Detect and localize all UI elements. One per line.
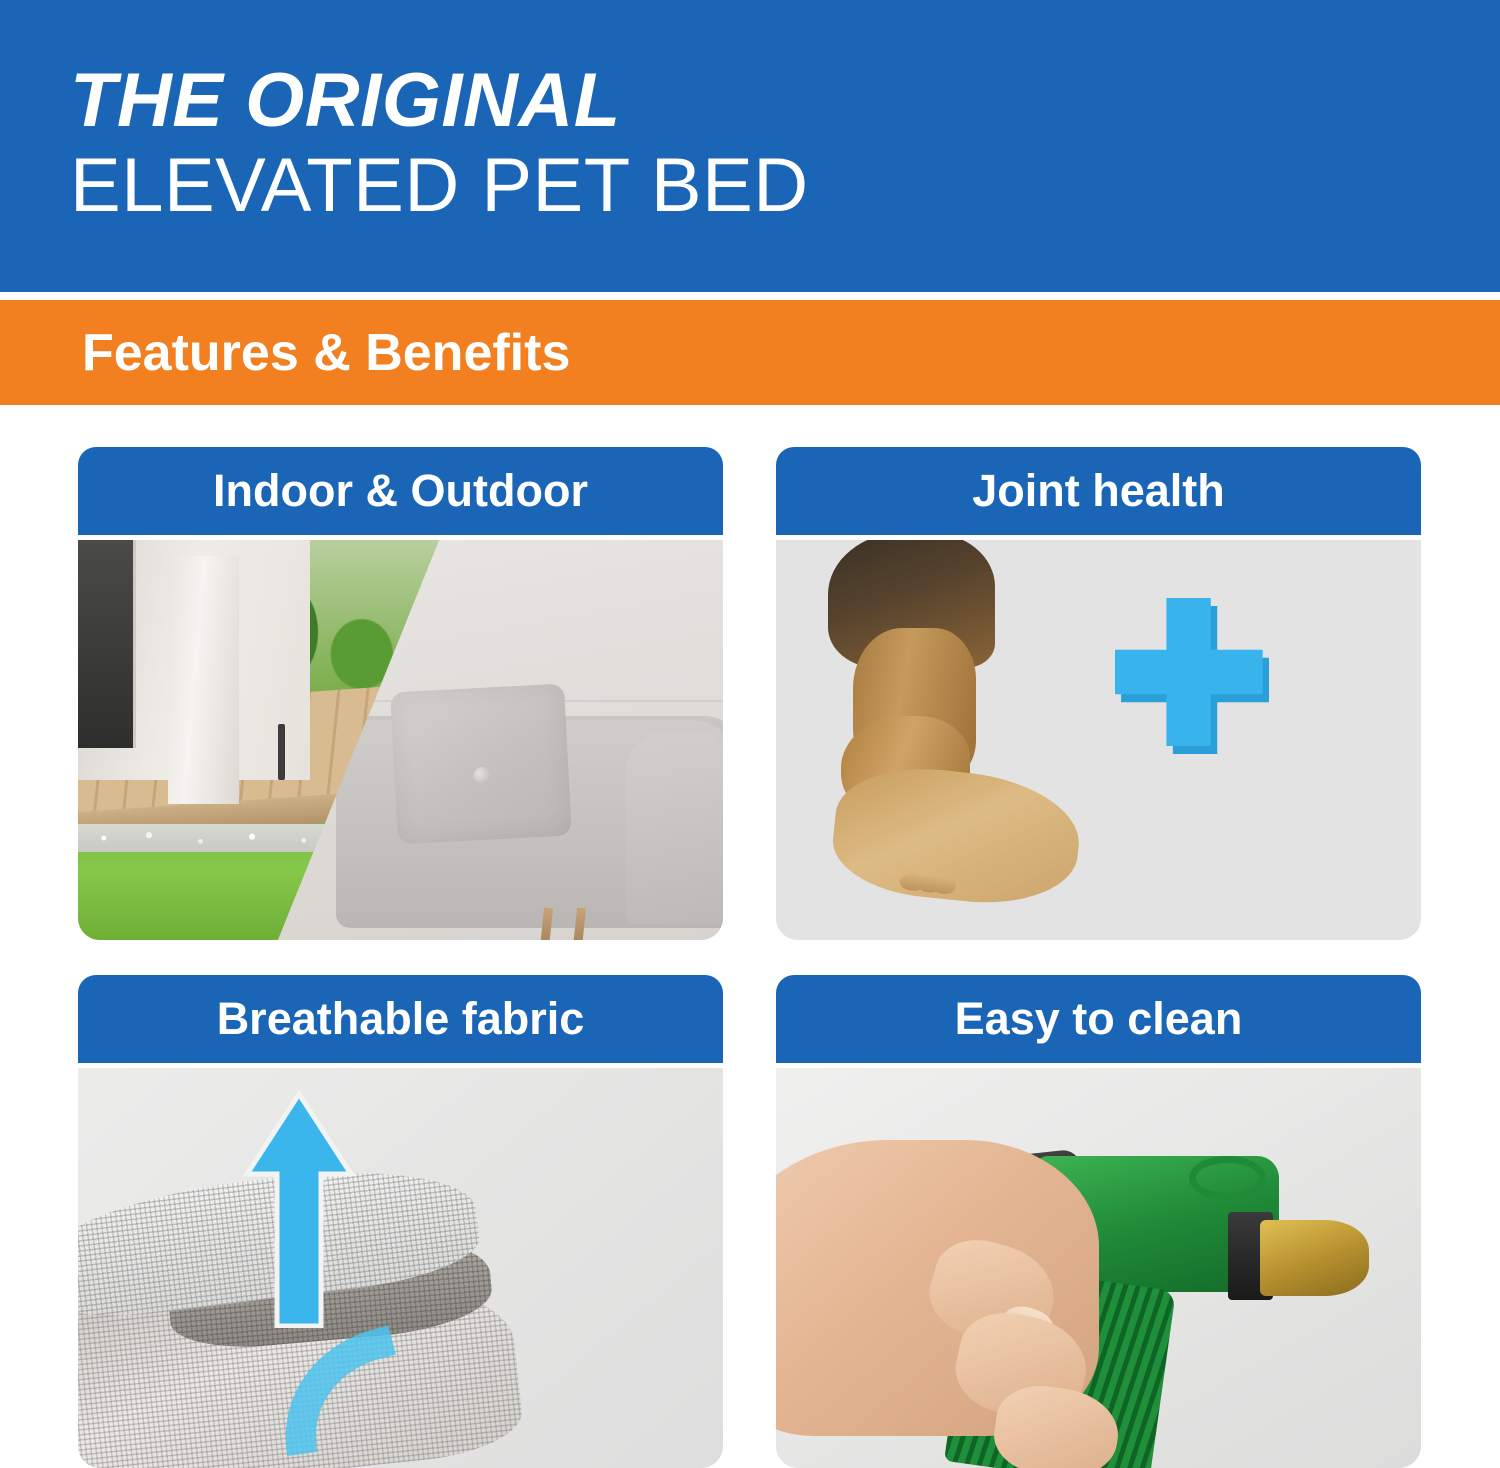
card-label-joint-health: Joint health — [972, 465, 1225, 517]
glass-door — [78, 540, 136, 748]
card-label-easy-to-clean: Easy to clean — [955, 993, 1243, 1045]
features-band-title: Features & Benefits — [82, 323, 570, 383]
card-image-indoor-outdoor — [78, 540, 723, 940]
feature-card-joint-health: Joint health — [776, 447, 1421, 935]
card-image-joint-health — [776, 540, 1421, 940]
card-header-joint-health: Joint health — [776, 447, 1421, 535]
card-header-breathable-fabric: Breathable fabric — [78, 975, 723, 1063]
hero-title-line-1: THE ORIGINAL — [70, 62, 1270, 140]
garden-lamp — [278, 724, 285, 780]
hero-text-block: THE ORIGINAL ELEVATED PET BED — [70, 62, 1270, 225]
hero-divider — [0, 292, 1500, 300]
nozzle-hang-hook — [1189, 1156, 1266, 1200]
airflow-arrow-icon — [239, 1088, 359, 1328]
features-band: Features & Benefits — [0, 300, 1500, 405]
card-image-breathable-fabric — [78, 1068, 723, 1468]
card-header-indoor-outdoor: Indoor & Outdoor — [78, 447, 723, 535]
dog-toe-3 — [931, 876, 957, 895]
hero-banner: THE ORIGINAL ELEVATED PET BED — [0, 0, 1500, 292]
hero-title-line-2: ELEVATED PET BED — [70, 146, 1270, 226]
feature-card-easy-to-clean: Easy to clean — [776, 975, 1421, 1463]
wall-column — [168, 556, 239, 804]
sofa-cushion — [390, 684, 572, 845]
cushion-button — [473, 767, 491, 785]
card-image-easy-to-clean — [776, 1068, 1421, 1468]
feature-card-indoor-outdoor: Indoor & Outdoor — [78, 447, 723, 935]
sofa-armrest — [626, 732, 723, 924]
card-label-indoor-outdoor: Indoor & Outdoor — [213, 465, 588, 517]
brass-nozzle-tip — [1260, 1220, 1370, 1296]
feature-card-breathable-fabric: Breathable fabric — [78, 975, 723, 1463]
feature-card-grid: Indoor & Outdoor — [0, 405, 1500, 1465]
card-header-easy-to-clean: Easy to clean — [776, 975, 1421, 1063]
card-label-breathable-fabric: Breathable fabric — [217, 993, 585, 1045]
